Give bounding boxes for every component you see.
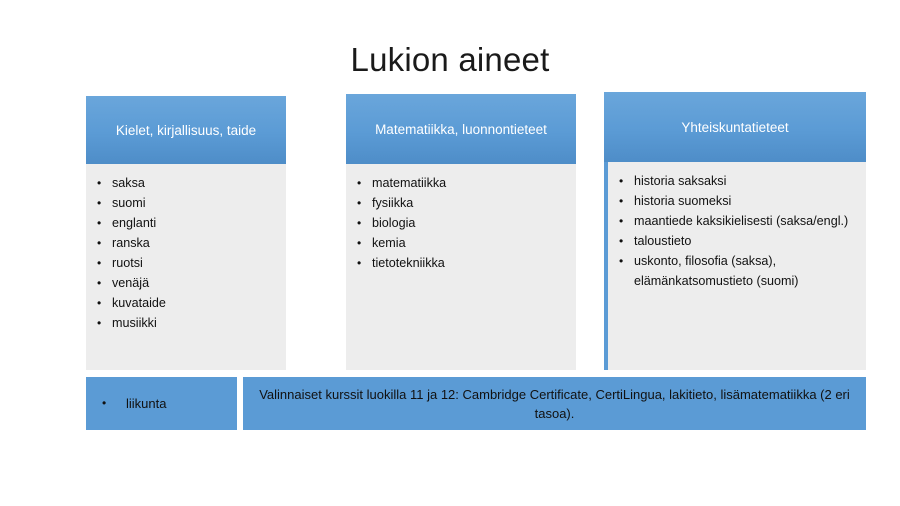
column-header-math-science: Matematiikka, luonnontieteet xyxy=(346,94,576,164)
column-header-label: Matematiikka, luonnontieteet xyxy=(375,121,547,138)
column-languages: Kielet, kirjallisuus, taide saksa suomi … xyxy=(86,96,286,370)
list-item: matematiikka xyxy=(354,174,570,194)
column-body-languages: saksa suomi englanti ranska ruotsi venäj… xyxy=(86,164,286,370)
list-item: tietotekniikka xyxy=(354,254,570,274)
column-header-social-sciences: Yhteiskuntatieteet xyxy=(604,92,866,162)
list-item: historia saksaksi xyxy=(616,172,860,192)
list-item: englanti xyxy=(94,214,280,234)
column-header-label: Kielet, kirjallisuus, taide xyxy=(116,122,256,139)
column-math-science: Matematiikka, luonnontieteet matematiikk… xyxy=(346,94,576,370)
list-item: taloustieto xyxy=(616,232,860,252)
list-item: uskonto, filosofia (saksa), elämänkatsom… xyxy=(616,252,860,291)
list-item: biologia xyxy=(354,214,570,234)
page-title: Lukion aineet xyxy=(0,40,900,80)
subject-list-languages: saksa suomi englanti ranska ruotsi venäj… xyxy=(94,174,280,334)
bottom-left-item: liikunta xyxy=(102,395,166,413)
list-item: maantiede kaksikielisesti (saksa/engl.) xyxy=(616,212,860,232)
bottom-left-item-label: liikunta xyxy=(126,396,166,411)
column-header-label: Yhteiskuntatieteet xyxy=(681,119,788,136)
column-body-math-science: matematiikka fysiikka biologia kemia tie… xyxy=(346,164,576,370)
bottom-left-box: liikunta xyxy=(86,377,237,430)
column-header-languages: Kielet, kirjallisuus, taide xyxy=(86,96,286,164)
slide-canvas: Lukion aineet Kielet, kirjallisuus, taid… xyxy=(0,0,900,506)
list-item: suomi xyxy=(94,194,280,214)
list-item: kuvataide xyxy=(94,294,280,314)
list-item: ruotsi xyxy=(94,254,280,274)
bottom-note-box: Valinnaiset kurssit luokilla 11 ja 12: C… xyxy=(243,377,866,430)
list-item: venäjä xyxy=(94,274,280,294)
subject-list-math-science: matematiikka fysiikka biologia kemia tie… xyxy=(354,174,570,274)
column-body-social-sciences: historia saksaksi historia suomeksi maan… xyxy=(604,162,866,370)
list-item: kemia xyxy=(354,234,570,254)
list-item: saksa xyxy=(94,174,280,194)
list-item: ranska xyxy=(94,234,280,254)
column-social-sciences: Yhteiskuntatieteet historia saksaksi his… xyxy=(604,92,866,370)
list-item: fysiikka xyxy=(354,194,570,214)
list-item: musiikki xyxy=(94,314,280,334)
bottom-note-text: Valinnaiset kurssit luokilla 11 ja 12: C… xyxy=(253,385,856,423)
subject-list-social-sciences: historia saksaksi historia suomeksi maan… xyxy=(616,172,860,291)
list-item: historia suomeksi xyxy=(616,192,860,212)
